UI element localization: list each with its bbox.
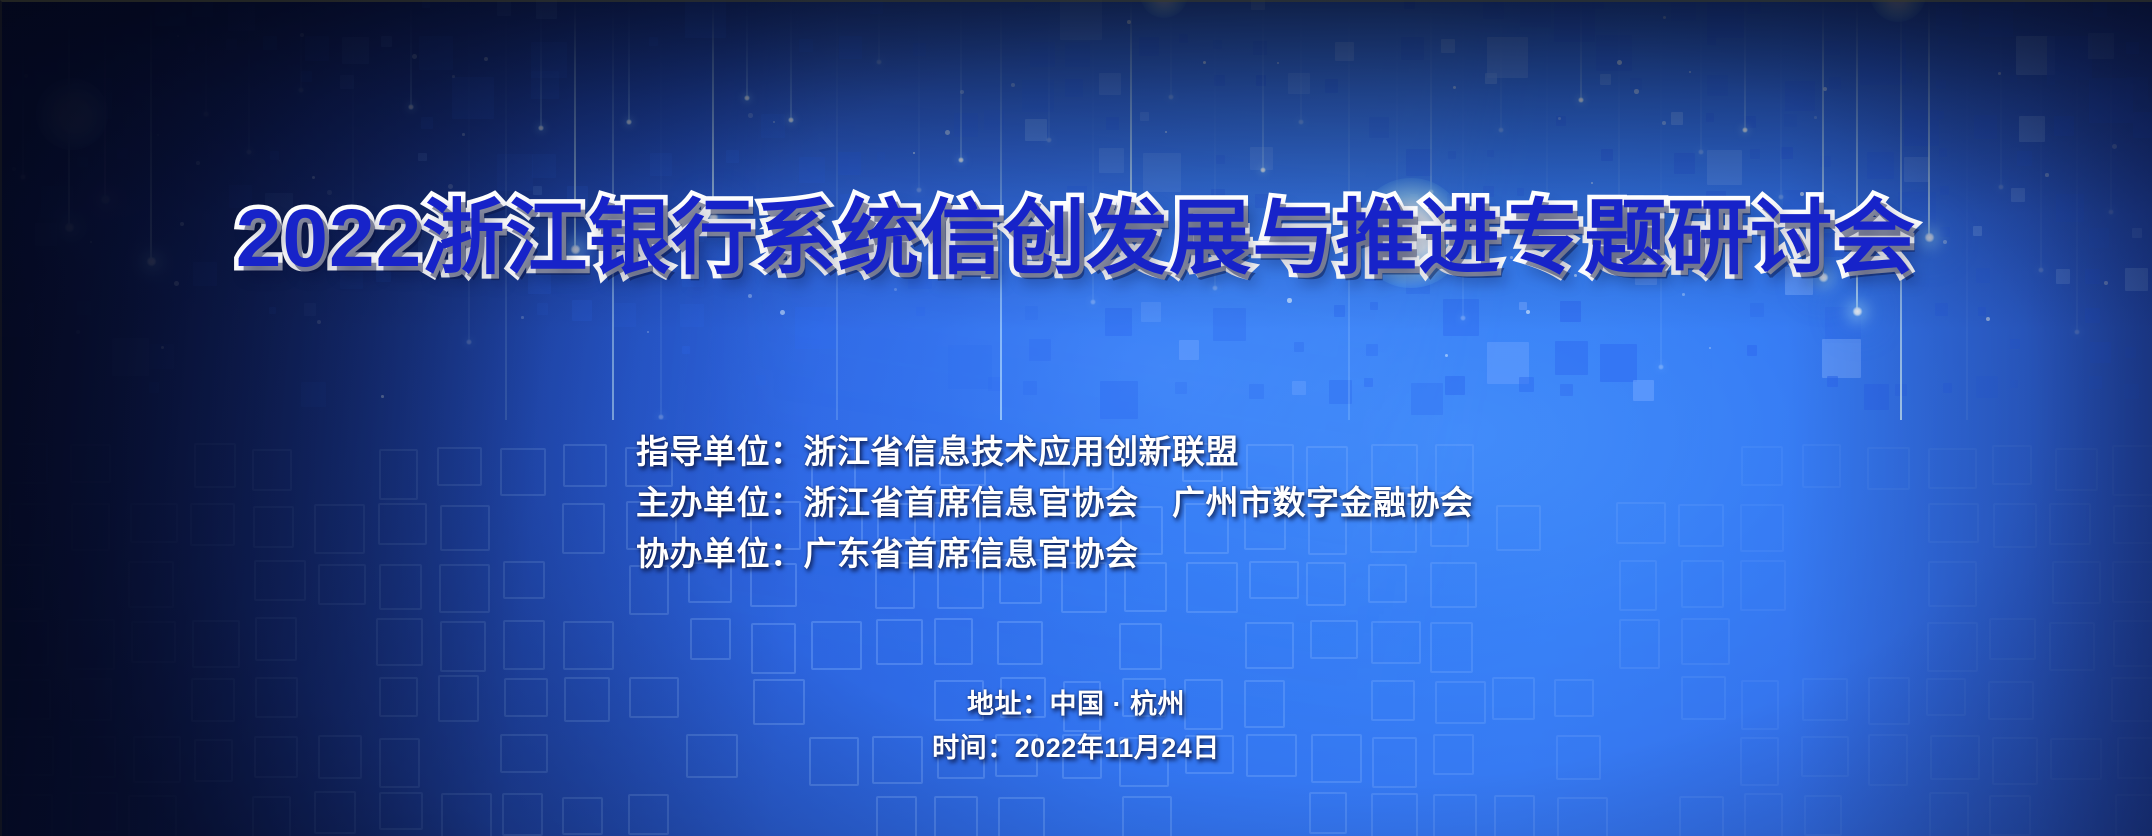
event-date: 时间：2022年11月24日 [0,726,2152,770]
conference-banner: 2022浙江银行系统信创发展与推进专题研讨会 指导单位：浙江省信息技术应用创新联… [0,0,2152,836]
organizer-line-host: 主办单位：浙江省首席信息官协会 广州市数字金融协会 [636,477,1474,528]
event-location: 地址：中国 · 杭州 [0,682,2152,726]
banner-title: 2022浙江银行系统信创发展与推进专题研讨会 [0,198,2152,280]
organizer-line-guidance: 指导单位：浙江省信息技术应用创新联盟 [636,426,1474,477]
organizer-block: 指导单位：浙江省信息技术应用创新联盟 主办单位：浙江省首席信息官协会 广州市数字… [636,426,1474,579]
banner-content: 2022浙江银行系统信创发展与推进专题研讨会 指导单位：浙江省信息技术应用创新联… [0,0,2152,836]
event-meta-block: 地址：中国 · 杭州 时间：2022年11月24日 [0,682,2152,770]
organizer-line-cohost: 协办单位：广东省首席信息官协会 [636,528,1474,579]
